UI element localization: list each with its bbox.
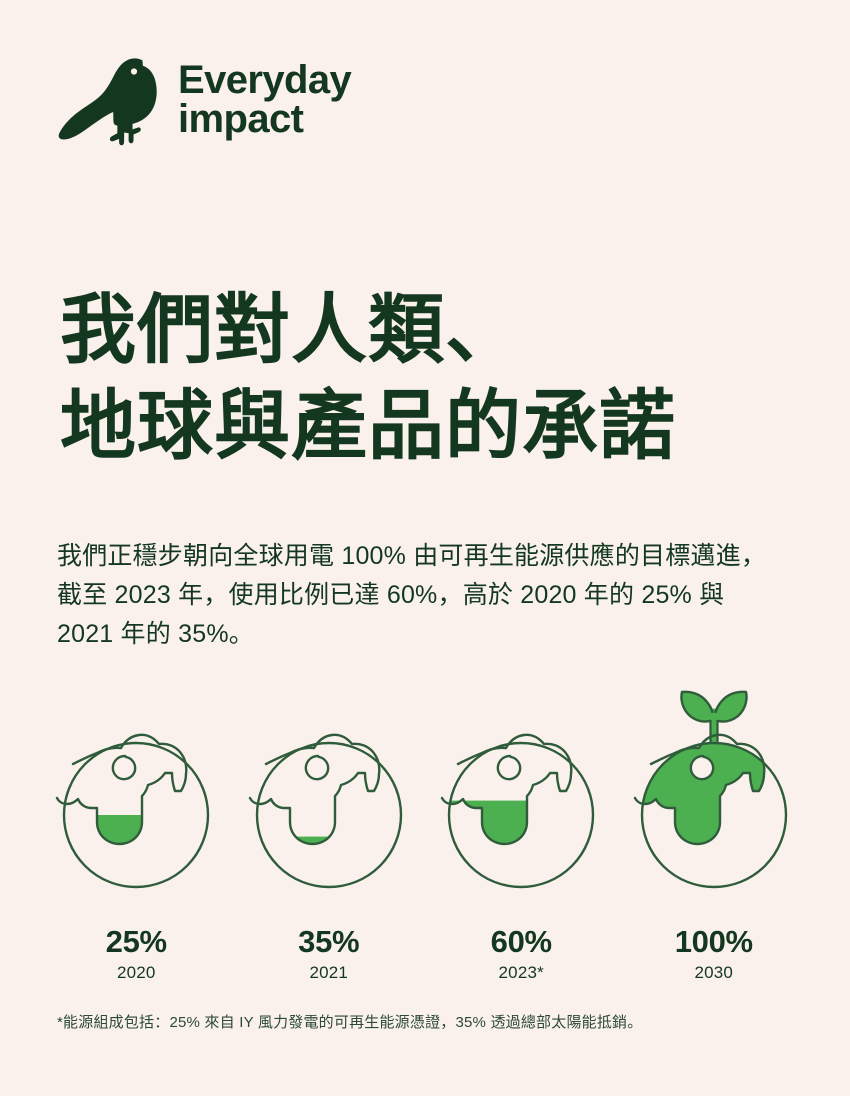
page-title-line-1: 我們對人類、 — [60, 283, 676, 380]
globe-cell-2023 — [425, 690, 618, 920]
brand-wordmark: Everyday impact — [178, 61, 351, 139]
globe-fill-level-2030 — [629, 743, 799, 887]
page-title-line-2: 地球與產品的承諾 — [60, 379, 676, 476]
stat-percent-2021: 35% — [233, 925, 426, 960]
globe-fill-level-2020 — [51, 815, 221, 851]
globe-cell-2020 — [40, 690, 233, 920]
globe-icon-2023 — [436, 690, 606, 920]
footnote: *能源組成包括：25% 來自 IY 風力發電的可再生能源憑證，35% 透過總部太… — [57, 1012, 642, 1033]
brand-line-2: impact — [178, 100, 351, 139]
stat-percent-2023: 60% — [425, 925, 618, 960]
globe-fill-level-2023 — [436, 801, 606, 887]
globe-cell-2030 — [618, 690, 811, 920]
globe-icon-2021 — [244, 690, 414, 920]
bird-icon — [57, 46, 162, 154]
stat-cell-2023: 60% 2023* — [425, 925, 618, 985]
stat-year-2020: 2020 — [40, 960, 233, 986]
stat-year-2030: 2030 — [618, 960, 811, 986]
stat-labels-row: 25% 2020 35% 2021 60% 2023* 100% 2030 — [40, 925, 810, 985]
globe-cell-2021 — [233, 690, 426, 920]
body-line-1: 我們正穩步朝向全球用電 100% 由可再生能源供應的目標邁進， — [57, 537, 797, 576]
globe-icon-2030 — [629, 690, 799, 920]
stat-cell-2021: 35% 2021 — [233, 925, 426, 985]
brand-line-1: Everyday — [178, 61, 351, 100]
page-title: 我們對人類、 地球與產品的承諾 — [60, 283, 676, 476]
stat-percent-2020: 25% — [40, 925, 233, 960]
globe-icon-2020 — [51, 690, 221, 920]
renewable-energy-globe-chart — [40, 690, 810, 920]
stat-cell-2030: 100% 2030 — [618, 925, 811, 985]
stat-cell-2020: 25% 2020 — [40, 925, 233, 985]
brand-logo: Everyday impact — [57, 46, 351, 154]
body-paragraph: 我們正穩步朝向全球用電 100% 由可再生能源供應的目標邁進， 截至 2023 … — [57, 537, 797, 653]
body-line-2: 截至 2023 年，使用比例已達 60%，高於 2020 年的 25% 與 — [57, 576, 797, 615]
stat-year-2023: 2023* — [425, 960, 618, 986]
globe-fill-level-2021 — [244, 837, 414, 887]
stat-year-2021: 2021 — [233, 960, 426, 986]
stat-percent-2030: 100% — [618, 925, 811, 960]
infographic-page: Everyday impact 我們對人類、 地球與產品的承諾 我們正穩步朝向全… — [0, 0, 850, 1096]
body-line-3: 2021 年的 35%。 — [57, 615, 797, 654]
